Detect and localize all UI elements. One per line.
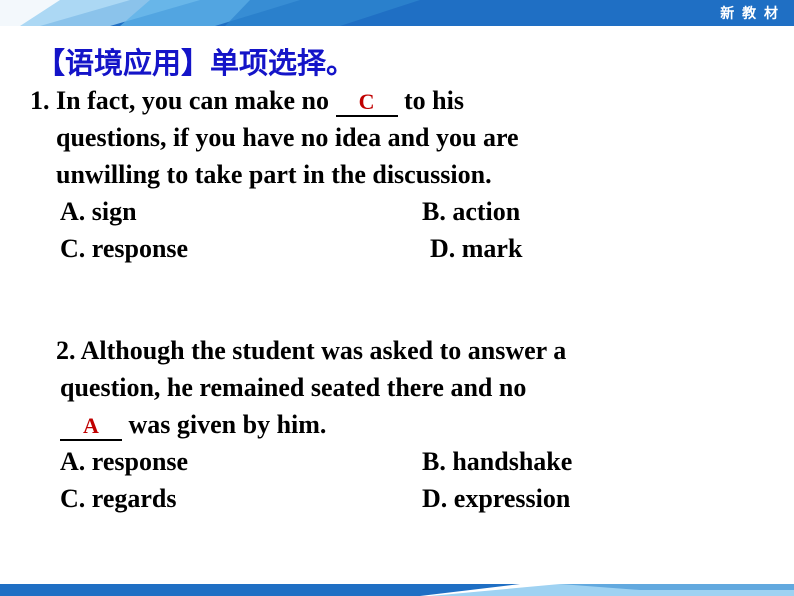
q2-number: 2. [56, 336, 76, 365]
q2-stem-part-2: was given by him. [129, 410, 327, 439]
q2-stem-line-1: 2. Although the student was asked to ans… [30, 332, 572, 369]
q1-options-row-2: C. responseD. mark [30, 230, 522, 267]
q2-stem-line-2: question, he remained seated there and n… [30, 369, 572, 406]
bottom-banner-decoration [0, 582, 794, 596]
q1-option-b[interactable]: B. action [390, 197, 520, 226]
q2-options-row-1: A. responseB. handshake [30, 443, 572, 480]
slide: 新 教 材 【语境应用】单项选择。 1. In fact, you can ma… [0, 0, 794, 596]
q1-number: 1. [30, 86, 50, 115]
q2-answer-blank: A [60, 413, 122, 441]
q2-stem-part-1: Although the student was asked to answer… [81, 336, 567, 365]
q2-option-c[interactable]: C. regards [60, 480, 390, 517]
q1-stem-line-2: questions, if you have no idea and you a… [30, 119, 522, 156]
slide-content: 【语境应用】单项选择。 1. In fact, you can make no … [0, 26, 794, 582]
q1-option-c[interactable]: C. response [60, 230, 390, 267]
banner-decoration [0, 0, 794, 26]
q1-stem-part-2: to his [404, 86, 464, 115]
q2-options-row-2: C. regardsD. expression [30, 480, 572, 517]
q1-stem-part-1: In fact, you can make no [56, 86, 329, 115]
brand-label: 新 教 材 [720, 2, 780, 24]
q2-stem-line-3: A was given by him. [30, 406, 572, 443]
q2-option-a[interactable]: A. response [60, 443, 390, 480]
q1-option-a[interactable]: A. sign [60, 193, 390, 230]
q2-option-d[interactable]: D. expression [390, 484, 570, 513]
q1-answer-blank: C [336, 89, 398, 117]
question-1: 1. In fact, you can make no C to his que… [30, 82, 522, 267]
q1-option-d[interactable]: D. mark [390, 234, 522, 263]
q2-option-b[interactable]: B. handshake [390, 447, 572, 476]
page-title: 【语境应用】单项选择。 [36, 40, 355, 82]
top-banner: 新 教 材 [0, 0, 794, 26]
q1-stem-line-1: 1. In fact, you can make no C to his [30, 82, 522, 119]
q1-stem-line-3: unwilling to take part in the discussion… [30, 156, 522, 193]
bottom-banner [0, 582, 794, 596]
question-2: 2. Although the student was asked to ans… [30, 332, 572, 517]
q1-options-row-1: A. signB. action [30, 193, 522, 230]
